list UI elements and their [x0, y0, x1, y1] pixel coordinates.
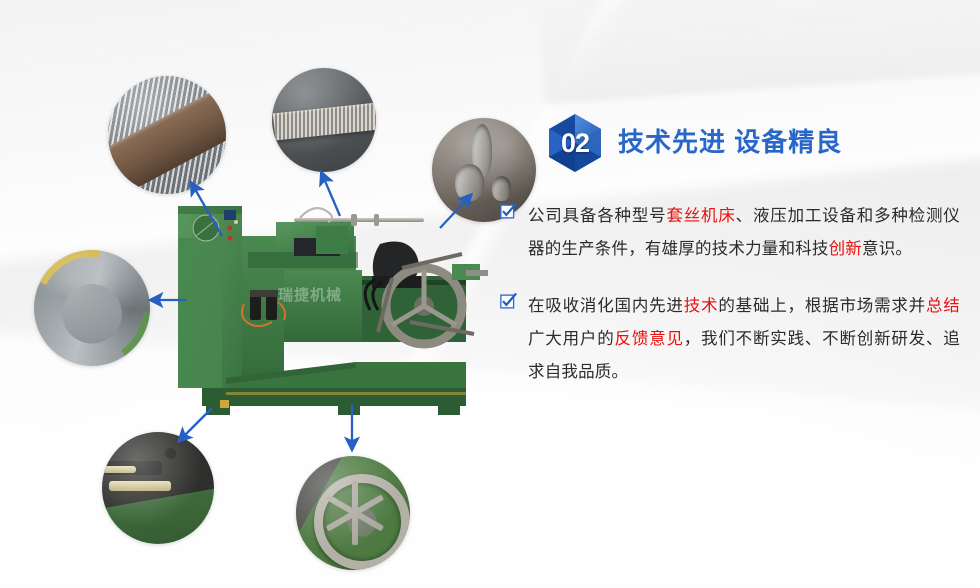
bullet-item: 公司具备各种型号套丝机床、液压加工设备和多种检测仪器的生产条件，有雄厚的技术力量… [500, 200, 960, 266]
detail-circle-handwheel-closeup [296, 456, 410, 570]
checkbox-checked-icon [500, 293, 517, 310]
text-segment: 公司具备各种型号 [528, 207, 666, 225]
text-segment: 在吸收消化国内先进 [528, 297, 684, 315]
machine-photo: 瑞捷机械 [166, 192, 496, 424]
text-segment: 意识。 [862, 240, 912, 258]
circle-sheen [34, 250, 150, 366]
circle-sheen [296, 456, 410, 570]
photo-watermark: 瑞捷机械 [278, 284, 342, 305]
background-sweep-upper-right [537, 0, 980, 104]
hexagon-badge-icon: 02 [544, 112, 606, 174]
detail-circle-threaded-bar-closeup [272, 68, 376, 172]
detail-circle-hydraulic-hose-closeup [102, 432, 214, 544]
bullet-text-2: 在吸收消化国内先进技术的基础上，根据市场需求并总结广大用户的反馈意见，我们不断实… [528, 290, 960, 389]
promo-banner: 瑞捷机械 [0, 0, 980, 588]
circle-sheen [108, 76, 226, 194]
checkbox-checked-icon [500, 203, 517, 220]
circle-sheen [272, 68, 376, 172]
detail-circle-die-head-closeup [34, 250, 150, 366]
section-number: 02 [544, 112, 606, 174]
highlight-segment: 创新 [829, 240, 862, 258]
bullet-text-1: 公司具备各种型号套丝机床、液压加工设备和多种检测仪器的生产条件，有雄厚的技术力量… [528, 200, 960, 266]
content-column: 02 技术先进 设备精良 公司具备各种型号套丝机床、液压加工设备和多种检测仪器的… [500, 104, 960, 180]
bullet-list: 公司具备各种型号套丝机床、液压加工设备和多种检测仪器的生产条件，有雄厚的技术力量… [500, 200, 960, 413]
section-header: 02 技术先进 设备精良 [500, 104, 960, 180]
text-segment: 广大用户的 [528, 330, 615, 348]
highlight-segment: 总结 [926, 297, 960, 315]
highlight-segment: 套丝机床 [666, 207, 735, 225]
highlight-segment: 反馈意见 [615, 330, 684, 348]
circle-sheen [102, 432, 214, 544]
section-title: 技术先进 设备精良 [618, 122, 842, 159]
bullet-item: 在吸收消化国内先进技术的基础上，根据市场需求并总结广大用户的反馈意见，我们不断实… [500, 290, 960, 389]
highlight-segment: 技术 [684, 297, 719, 315]
detail-circle-threaded-rod-closeup [108, 76, 226, 194]
text-segment: 的基础上，根据市场需求并 [718, 297, 926, 315]
